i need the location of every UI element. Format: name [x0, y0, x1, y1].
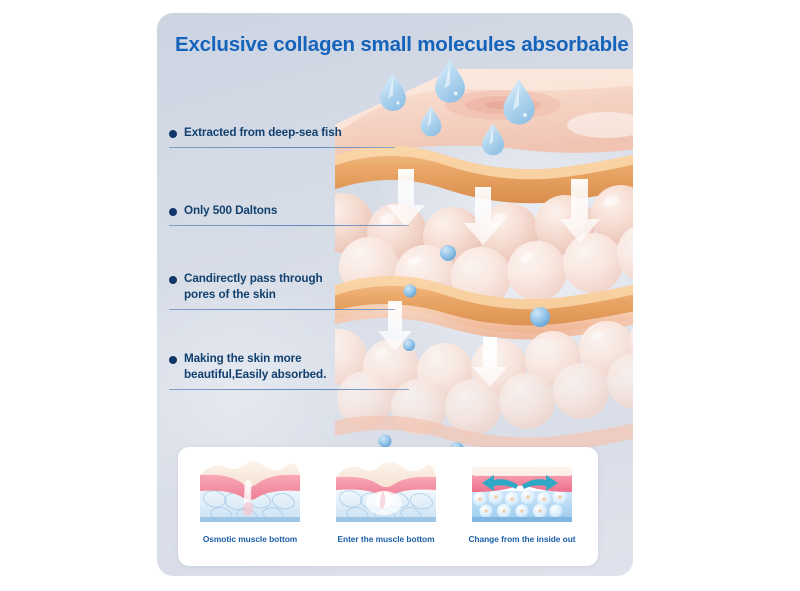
process-step-caption: Change from the inside out	[456, 534, 588, 544]
bullet-label-line1: Candirectly pass through	[184, 272, 323, 285]
bullet-item-3: Making the skin more beautiful,Easily ab…	[169, 351, 421, 383]
process-step-caption: Enter the muscle bottom	[320, 534, 452, 544]
skin-penetration-icon	[320, 453, 452, 531]
bullet-label-line2: pores of the skin	[184, 288, 276, 301]
bullet-leader-line	[169, 309, 395, 310]
bullet-item-1: Only 500 Daltons	[169, 203, 421, 219]
skin-osmosis-icon	[184, 453, 316, 531]
bullet-label: Candirectly pass through pores of the sk…	[184, 271, 323, 303]
collagen-molecule	[403, 339, 415, 351]
skin-layers-illustration	[335, 51, 633, 451]
bullet-leader-line	[169, 225, 409, 226]
collagen-molecule	[379, 435, 392, 448]
bullet-label: Extracted from deep-sea fish	[184, 125, 342, 141]
page-title: Exclusive collagen small molecules absor…	[175, 33, 615, 57]
water-droplet	[435, 59, 465, 103]
bullet-dot-icon	[169, 208, 177, 216]
bullet-item-2: Candirectly pass through pores of the sk…	[169, 271, 421, 303]
water-droplet	[380, 73, 406, 111]
bullet-label: Making the skin more beautiful,Easily ab…	[184, 351, 326, 383]
process-step-renewal: Change from the inside out	[456, 453, 588, 561]
bullet-label: Only 500 Daltons	[184, 203, 277, 219]
bullet-label-line1: Making the skin more	[184, 352, 302, 365]
bullet-dot-icon	[169, 276, 177, 284]
bullet-leader-line	[169, 389, 409, 390]
bullet-dot-icon	[169, 130, 177, 138]
collagen-molecule	[530, 307, 550, 327]
bullet-item-0: Extracted from deep-sea fish	[169, 125, 421, 141]
process-panel: Osmotic muscle bottom	[178, 447, 598, 566]
process-step-caption: Osmotic muscle bottom	[184, 534, 316, 544]
collagen-molecule	[440, 245, 456, 261]
bullet-dot-icon	[169, 356, 177, 364]
process-step-osmotic: Osmotic muscle bottom	[184, 453, 316, 561]
skin-renewal-icon	[456, 453, 588, 531]
bullet-label-line2: beautiful,Easily absorbed.	[184, 368, 326, 381]
infographic-card: Exclusive collagen small molecules absor…	[157, 13, 633, 576]
bullet-leader-line	[169, 147, 395, 148]
process-step-enter: Enter the muscle bottom	[320, 453, 452, 561]
